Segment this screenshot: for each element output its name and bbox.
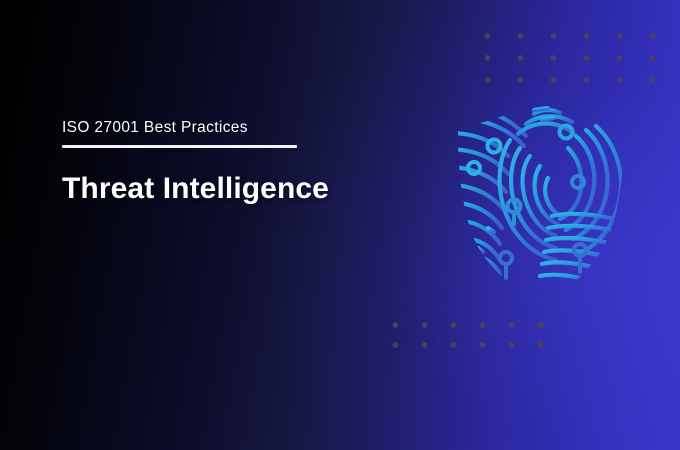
banner-card: ISO 27001 Best Practices Threat Intellig… bbox=[0, 0, 680, 450]
page-title: Threat Intelligence bbox=[62, 172, 329, 206]
dot-grid-bottom bbox=[378, 312, 560, 360]
title-underline-rule bbox=[62, 145, 297, 148]
eyebrow-label: ISO 27001 Best Practices bbox=[62, 118, 329, 138]
text-block: ISO 27001 Best Practices Threat Intellig… bbox=[62, 118, 329, 206]
dot-grid-top bbox=[468, 22, 680, 88]
fingerprint-shield-icon bbox=[448, 100, 634, 305]
